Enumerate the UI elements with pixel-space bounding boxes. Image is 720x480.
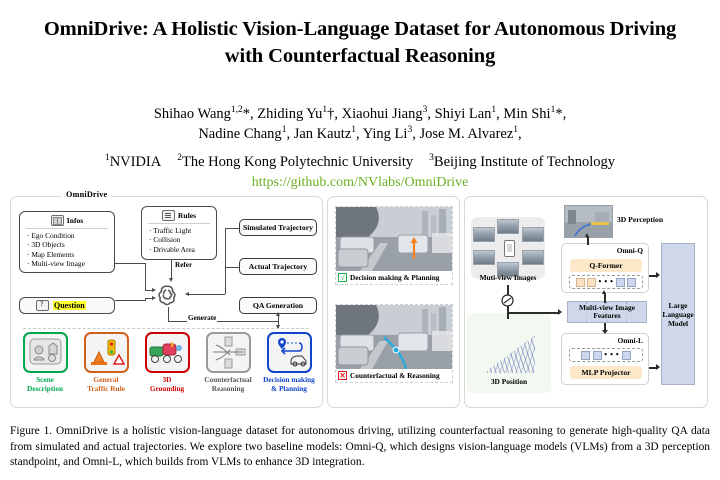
scene-caption-text: Decision making & Planning (350, 273, 439, 282)
query-token (616, 278, 625, 287)
3d-perception-preview (564, 205, 613, 238)
multiview-thumb (522, 250, 544, 265)
scene-decision-making: √ Decision making & Planning (335, 206, 453, 285)
token-ellipsis: • • • (599, 278, 614, 286)
edge-label-refer: Refer (174, 261, 193, 269)
multiview-thumb (522, 227, 544, 242)
connector-to-features (507, 312, 559, 314)
arrow-traj-to-llm (185, 292, 189, 296)
traffic-rule-icon (84, 332, 129, 373)
omni-l-tag: Omni-L (618, 336, 643, 345)
affiliation-1: NVIDIA (110, 154, 162, 170)
fusion-circle-icon (500, 293, 515, 308)
omni-l-box: Omni-L • • • MLP Projector (561, 333, 649, 385)
multiview-thumb (473, 227, 495, 242)
token-ellipsis: • • • (604, 351, 619, 359)
connector-question-to-llm (115, 300, 145, 301)
card-label-line2: Traffic Rule (78, 385, 134, 394)
card-general-traffic-rule[interactable]: General Traffic Rule (78, 332, 134, 404)
infos-item: 3D Objects (27, 240, 114, 249)
card-label: Decision making & Planning (261, 376, 317, 393)
rules-list: Traffic Light Collision Drivable Area (142, 226, 216, 254)
connector-traj-down (225, 228, 226, 294)
connector-rules-to-llm (171, 260, 172, 280)
scene-counterfactual: ✕ Counterfactual & Reasoning (335, 304, 453, 383)
card-label: Scene Description (17, 376, 73, 393)
author-line-2: Nadine Chang1, Jan Kautz1, Ying Li3, Jos… (0, 124, 720, 144)
3d-grounding-icon (145, 332, 190, 373)
connector-infos-vertical (145, 263, 146, 290)
connector-act-traj (225, 267, 239, 268)
infos-header: Infos (20, 212, 114, 226)
rules-header: Rules (142, 207, 216, 221)
card-scene-description[interactable]: Scene Description (17, 332, 73, 404)
infos-list: Ego Condition 3D Objects Map Elements Mu… (20, 231, 114, 269)
scene-caption-text: Counterfactual & Reasoning (350, 371, 440, 380)
driving-scenes-panel: √ Decision making & Planning (327, 196, 460, 408)
3d-perception-label: 3D Perception (617, 215, 663, 224)
card-label: General Traffic Rule (78, 376, 134, 393)
query-token (627, 278, 636, 287)
multiview-thumb (497, 219, 519, 234)
q-former-token-row: • • • (569, 275, 643, 289)
panel-title-omnidrive: OmniDrive (61, 190, 112, 199)
arrow-omniq-to-llm (656, 272, 660, 278)
image-token (593, 351, 602, 360)
card-label-line2: Description (17, 385, 73, 394)
arrow-infos-to-llm (152, 288, 156, 292)
counterfactual-icon (206, 332, 251, 373)
cross-icon: ✕ (338, 371, 347, 380)
figure-caption: Figure 1. OmniDrive is a holistic vision… (10, 424, 710, 471)
omni-q-tag: Omni-Q (617, 246, 643, 255)
task-category-row: Scene Description (17, 332, 317, 404)
panels-icon (51, 215, 64, 226)
scene-caption-bottom: ✕ Counterfactual & Reasoning (336, 369, 452, 382)
card-counterfactual-reasoning[interactable]: Counterfactual Reasoning (200, 332, 256, 404)
model-architecture-panel: Muti-view Images 3D Position 3D Percepti… (464, 196, 708, 408)
infos-title: Infos (67, 216, 83, 225)
title-line-1: OmniDrive: A Holistic Vision-Language Da… (0, 16, 720, 43)
llm-label-line1: Large (662, 301, 693, 310)
connector-traj-to-llm (189, 294, 225, 295)
card-label-line2: & Planning (261, 385, 317, 394)
arrow-to-features (558, 309, 562, 315)
ego-vehicle-icon (504, 240, 515, 257)
infos-box: Infos Ego Condition 3D Objects Map Eleme… (19, 211, 115, 273)
card-label-line2: Grounding (139, 385, 195, 394)
features-label: Multi-view Image Features (568, 304, 646, 321)
multiview-image-features: Multi-view Image Features (567, 301, 647, 323)
scene-image-top (336, 207, 452, 271)
question-icon (36, 300, 49, 311)
affiliation-2: The Hong Kong Polytechnic University (182, 154, 413, 170)
infos-divider (26, 228, 108, 229)
rules-divider (148, 223, 210, 224)
page-title: OmniDrive: A Holistic Vision-Language Da… (0, 0, 720, 70)
rules-item: Traffic Light (149, 226, 216, 235)
arrow-rules-to-llm (169, 278, 173, 282)
stage-label: Simulated Trajectory (243, 223, 313, 232)
multiview-images-label: Muti-view Images (469, 273, 547, 282)
author-line-1: Shihao Wang1,2*, Zhiding Yu1†, Xiaohui J… (0, 104, 720, 124)
connector-infos-to-llm (115, 263, 145, 264)
multiview-images-cluster (471, 217, 545, 279)
card-label: Counterfactual Reasoning (200, 376, 256, 393)
edge-label-generate: Generate (187, 314, 217, 322)
infos-item: Map Elements (27, 250, 114, 259)
planning-icon (267, 332, 312, 373)
card-label: 3D Grounding (139, 376, 195, 393)
connector-omniq-to-perception (587, 237, 589, 245)
stage-actual-trajectory: Actual Trajectory (239, 258, 317, 275)
arrow-omniq-to-perception (585, 233, 589, 237)
card-3d-grounding[interactable]: 3D Grounding (139, 332, 195, 404)
title-line-2: with Counterfactual Reasoning (0, 43, 720, 70)
stage-label: Actual Trajectory (249, 262, 307, 271)
question-box: Question (19, 297, 115, 314)
llm-label-line3: Model (662, 319, 693, 328)
stage-label: QA Generation (253, 301, 303, 310)
infos-item: Ego Condition (27, 231, 114, 240)
scene-caption-top: √ Decision making & Planning (336, 271, 452, 284)
point-cloud-fan-icon (483, 327, 535, 373)
multiview-thumb (473, 250, 495, 265)
cards-separator (23, 328, 309, 329)
figure-1: OmniDrive Infos Ego Condition 3D Objects… (10, 196, 710, 408)
mlp-projector-module: MLP Projector (570, 366, 642, 379)
check-icon: √ (338, 273, 347, 282)
project-url[interactable]: https://github.com/NVlabs/OmniDrive (0, 175, 720, 191)
scene-description-icon (23, 332, 68, 373)
arrow-omnil-to-llm (656, 364, 660, 370)
rules-item: Drivable Area (149, 245, 216, 254)
arrow-features-to-omnil (602, 330, 608, 334)
author-list: Shihao Wang1,2*, Zhiding Yu1†, Xiaohui J… (0, 104, 720, 144)
3d-position-label: 3D Position (467, 377, 551, 386)
scene-image-bottom (336, 305, 452, 369)
query-token (576, 278, 585, 287)
rules-title: Rules (178, 211, 196, 220)
infos-item: Multi-view Image (27, 259, 114, 268)
omni-l-token-row: • • • (569, 348, 643, 362)
openai-swirl-icon (156, 283, 180, 307)
connector-llm-down (168, 307, 169, 321)
arrow-features-to-omniq (602, 290, 606, 294)
affiliation-line: 1NVIDIA2The Hong Kong Polytechnic Univer… (0, 152, 720, 172)
image-token (622, 351, 631, 360)
omni-q-box: Omni-Q Q-Former • • • (561, 243, 649, 293)
card-decision-making-planning[interactable]: Decision making & Planning (261, 332, 317, 404)
affiliation-3: Beijing Institute of Technology (434, 154, 615, 170)
rules-item: Collision (149, 235, 216, 244)
connector-features-to-omniq (604, 293, 606, 303)
llm-label-line2: Language (662, 310, 693, 319)
paper-page: OmniDrive: A Holistic Vision-Language Da… (0, 0, 720, 480)
image-token (581, 351, 590, 360)
arrow-question-to-llm (152, 296, 156, 300)
document-icon (162, 210, 175, 221)
question-label: Question (53, 301, 86, 310)
connector-generate (168, 321, 278, 322)
dataset-pipeline-panel: OmniDrive Infos Ego Condition 3D Objects… (10, 196, 323, 408)
stage-simulated-trajectory: Simulated Trajectory (239, 219, 317, 236)
large-language-model: Large Language Model (661, 243, 695, 385)
rules-box: Rules Traffic Light Collision Drivable A… (141, 206, 217, 260)
q-former-module: Q-Former (570, 259, 642, 272)
query-token (587, 278, 596, 287)
card-label-line2: Reasoning (200, 385, 256, 394)
connector-sim-traj (225, 228, 239, 229)
